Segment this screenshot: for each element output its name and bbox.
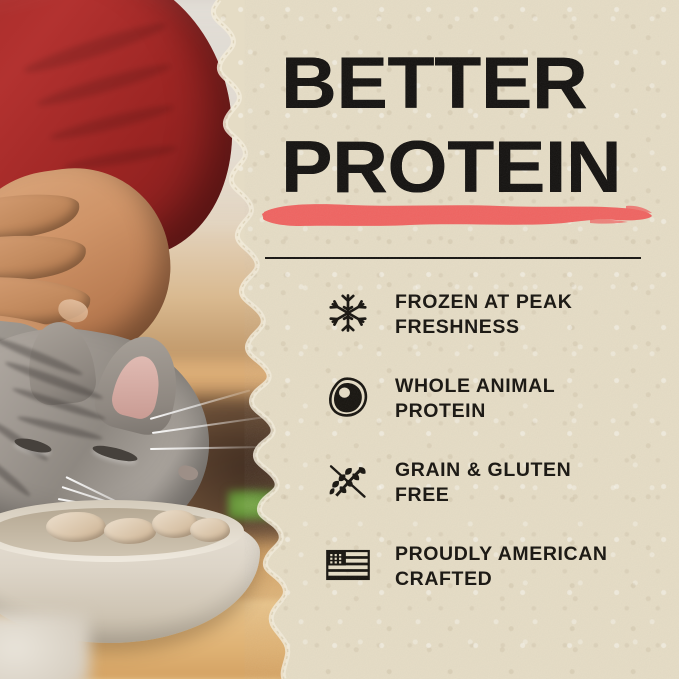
headline-block: BETTER PROTEIN	[281, 48, 671, 203]
feature-item-american: PROUDLY AMERICAN CRAFTED	[325, 540, 665, 596]
feature-item-frozen: FROZEN AT PEAK FRESHNESS	[325, 288, 665, 344]
product-feature-poster: BETTER PROTEIN	[0, 0, 679, 679]
cat-ear-inner	[108, 351, 166, 422]
feature-label: GRAIN & GLUTEN FREE	[395, 456, 571, 508]
cat-food	[46, 512, 106, 542]
steak-icon	[325, 374, 371, 420]
feature-label: FROZEN AT PEAK FRESHNESS	[395, 288, 572, 340]
feature-label: PROUDLY AMERICAN CRAFTED	[395, 540, 608, 592]
feature-label: WHOLE ANIMAL PROTEIN	[395, 372, 555, 424]
headline-line-1: BETTER	[281, 48, 679, 120]
feature-item-protein: WHOLE ANIMAL PROTEIN	[325, 372, 665, 428]
horizontal-divider	[265, 257, 641, 259]
wheat-crossed-out-icon	[325, 458, 371, 504]
foreground-blur	[0, 612, 90, 679]
cat-food	[190, 518, 230, 542]
feature-item-grain-free: GRAIN & GLUTEN FREE	[325, 456, 665, 512]
snowflake-icon	[325, 290, 371, 336]
headline-line-2: PROTEIN	[281, 132, 679, 204]
feature-list: FROZEN AT PEAK FRESHNESS WHOLE ANIMAL PR…	[325, 288, 665, 624]
american-flag-icon	[325, 542, 371, 588]
red-brush-underline	[260, 196, 654, 232]
cat-food	[104, 518, 156, 544]
